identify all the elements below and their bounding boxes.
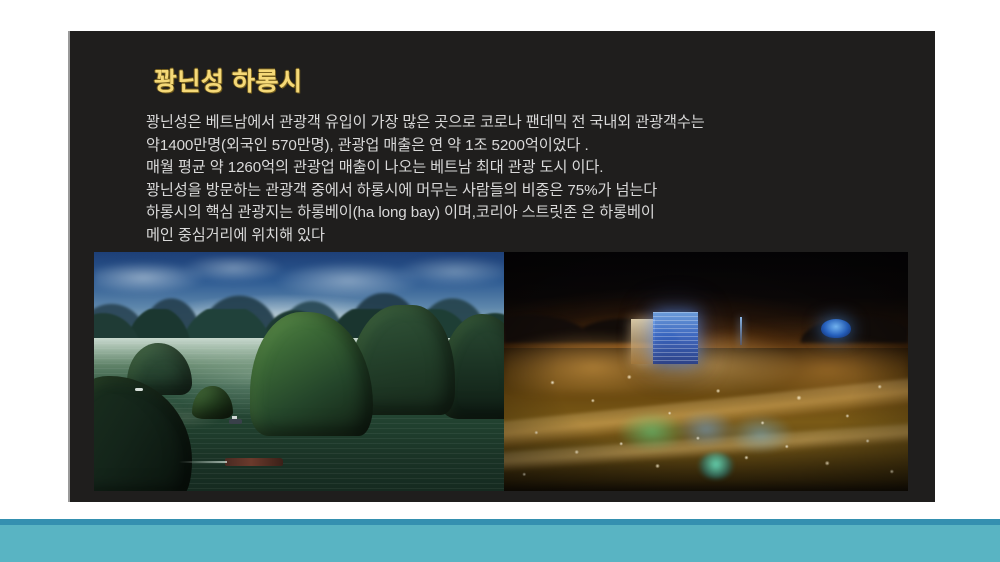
page-title: 꽝닌성 하롱시 (154, 62, 302, 98)
footer-teal-band (0, 525, 1000, 562)
body-line: 꽝닌성은 베트남에서 관광객 유입이 가장 많은 곳으로 코로나 팬데믹 전 국… (146, 112, 935, 135)
body-line: 약1400만명(외국인 570만명), 관광업 매출은 연 약 1조 5200억… (146, 135, 935, 158)
slide-body-text: 꽝닌성은 베트남에서 관광객 유입이 가장 많은 곳으로 코로나 팬데믹 전 국… (146, 112, 935, 248)
body-line: 하롱시의 핵심 관광지는 하롱베이(ha long bay) 이며,코리아 스트… (146, 202, 935, 225)
image-gallery-row (94, 252, 908, 491)
slide-content-panel: 꽝닌성 하롱시 꽝닌성은 베트남에서 관광객 유입이 가장 많은 곳으로 코로나… (68, 31, 935, 502)
bay-boat (135, 388, 143, 391)
halong-bay-daytime-photo (94, 252, 504, 491)
halong-city-night-photo (504, 252, 908, 491)
bay-boat (229, 419, 242, 424)
night-vignette (504, 252, 908, 491)
body-line: 꽝닌성을 방문하는 관광객 중에서 하롱시에 머무는 사람들의 비중은 75%가… (146, 180, 935, 203)
body-line: 매월 평균 약 1260억의 관광업 매출이 나오는 베트남 최대 관광 도시 … (146, 157, 935, 180)
body-line: 메인 중심거리에 위치해 있다 (146, 225, 935, 248)
bay-barge (225, 458, 283, 466)
